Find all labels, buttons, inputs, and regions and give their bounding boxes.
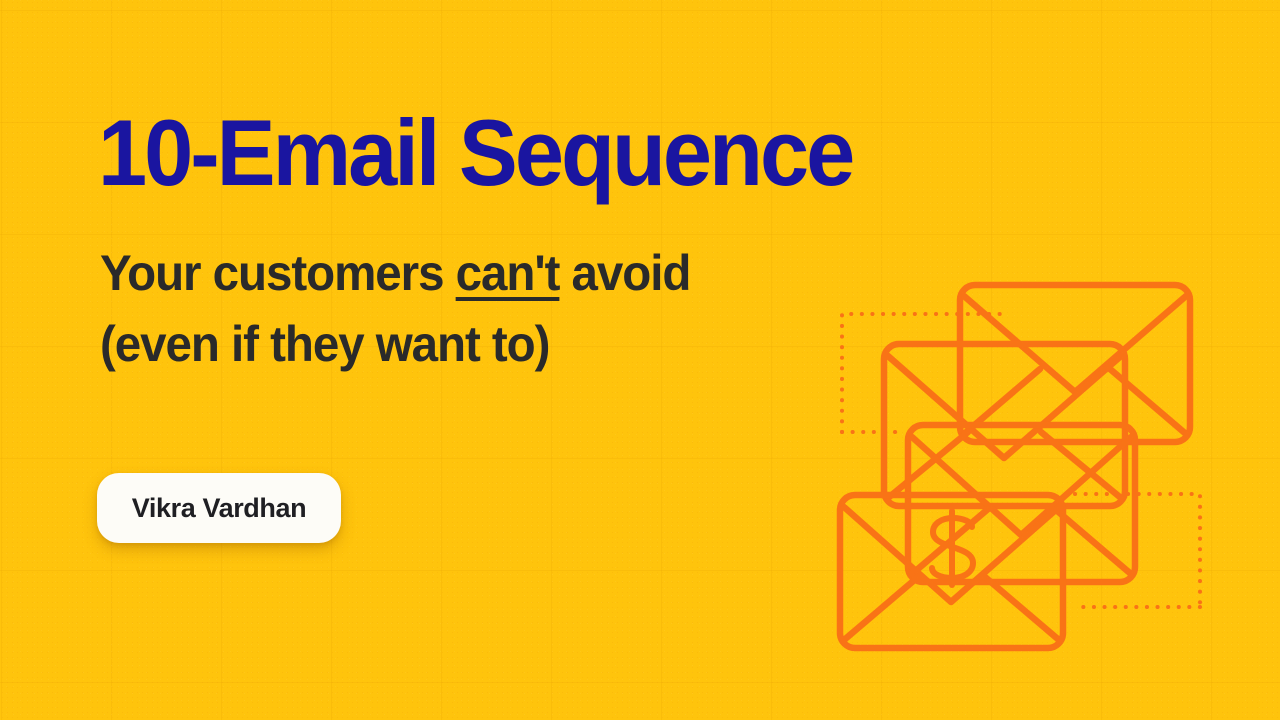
slide-subtitle: Your customers can't avoid (even if they… bbox=[100, 238, 690, 379]
subtitle-emphasis: can't bbox=[456, 245, 560, 301]
dotted-frame-top bbox=[842, 314, 1000, 432]
envelope-4-dollar bbox=[840, 495, 1063, 648]
author-name: Vikra Vardhan bbox=[132, 493, 306, 524]
dotted-frame-bottom bbox=[1075, 494, 1200, 607]
subtitle-part-after: avoid bbox=[559, 245, 690, 301]
envelope-2 bbox=[884, 344, 1125, 506]
subtitle-line-2: (even if they want to) bbox=[100, 309, 690, 380]
dollar-sign-icon bbox=[932, 511, 973, 585]
subtitle-part-before: Your customers bbox=[100, 245, 456, 301]
slide-canvas: 10-Email Sequence Your customers can't a… bbox=[0, 0, 1280, 720]
envelope-3 bbox=[908, 425, 1135, 582]
author-badge[interactable]: Vikra Vardhan bbox=[97, 473, 341, 543]
subtitle-line-1: Your customers can't avoid bbox=[100, 238, 690, 309]
slide-title: 10-Email Sequence bbox=[98, 106, 852, 200]
envelope-1 bbox=[960, 285, 1190, 442]
